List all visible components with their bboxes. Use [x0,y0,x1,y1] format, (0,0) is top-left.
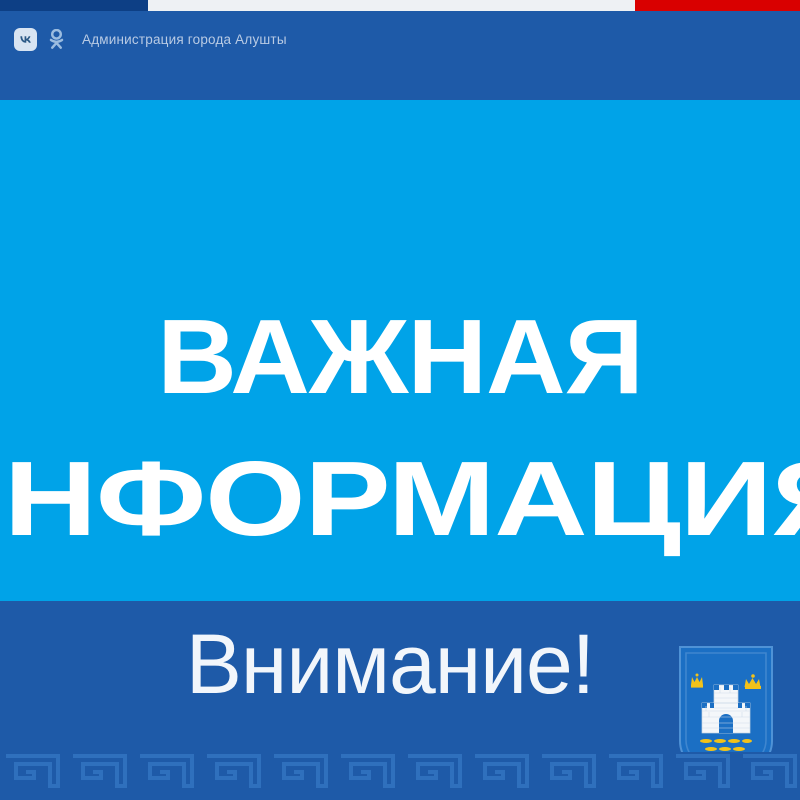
flag-segment-blue [0,0,148,11]
ok-icon[interactable] [45,28,68,51]
flag-segment-white [148,0,635,11]
headline-line-2: ИНФОРМАЦИЯ! [0,446,800,552]
header-content: Администрация города Алушты [14,28,287,51]
attention-text: Внимание! [120,622,660,706]
russian-flag-strip [0,0,800,11]
main-banner-panel: ВАЖНАЯ ИНФОРМАЦИЯ! [0,100,800,601]
flag-segment-red [635,0,800,11]
vk-icon[interactable] [14,28,37,51]
poster-root: Администрация города Алушты ВАЖНАЯ ИНФОР… [0,0,800,800]
headline-line-1: ВАЖНАЯ [0,304,800,410]
header-bar: Администрация города Алушты [0,11,800,100]
header-title: Администрация города Алушты [82,32,287,47]
greek-meander-border [0,752,800,792]
